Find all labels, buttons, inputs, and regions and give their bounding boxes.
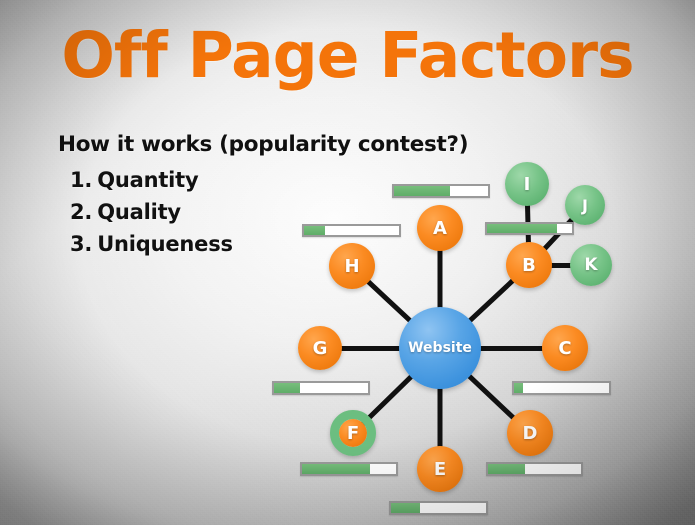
diagram-node-h[interactable]: H	[329, 243, 375, 289]
diagram-node-b[interactable]: B	[506, 242, 552, 288]
node-label: A	[433, 218, 447, 239]
progress-bar-fill	[302, 464, 370, 474]
page-title: Off Page Factors	[0, 24, 695, 87]
progress-bar-e	[389, 501, 488, 515]
slide-canvas: WebsiteABCDEFGHIJK Off Page Factors How …	[0, 0, 695, 525]
progress-bar-fill	[274, 383, 300, 393]
diagram-node-j[interactable]: J	[565, 185, 605, 225]
progress-bar-c	[512, 381, 611, 395]
progress-bar-fill	[488, 464, 525, 474]
progress-bar-fill	[391, 503, 420, 513]
node-label: G	[313, 338, 328, 359]
diagram-node-i[interactable]: I	[505, 162, 549, 206]
node-label: I	[524, 174, 531, 195]
diagram-node-g[interactable]: G	[298, 326, 342, 370]
list-item-label: Uniqueness	[97, 232, 233, 256]
diagram-node-a[interactable]: A	[417, 205, 463, 251]
progress-bar-d	[486, 462, 583, 476]
diagram-node-e[interactable]: E	[417, 446, 463, 492]
list-item: 2.Quality	[70, 200, 233, 224]
progress-bar-b	[485, 222, 574, 235]
progress-bar-fill	[514, 383, 523, 393]
list-item-number: 1.	[70, 168, 92, 192]
node-label: K	[584, 255, 597, 275]
node-label: C	[558, 338, 571, 359]
progress-bar-f	[300, 462, 398, 476]
node-label: H	[344, 256, 359, 277]
node-label: B	[522, 255, 536, 276]
node-label: D	[523, 423, 538, 444]
diagram-node-f[interactable]: F	[330, 410, 376, 456]
progress-bar-g	[272, 381, 370, 395]
node-label: J	[582, 196, 588, 215]
diagram-node-k[interactable]: K	[570, 244, 612, 286]
list-item-number: 3.	[70, 232, 92, 256]
progress-bar-fill	[487, 224, 557, 233]
list-item-label: Quality	[97, 200, 181, 224]
node-label: Website	[408, 340, 472, 356]
diagram-node-website-hub[interactable]: Website	[399, 307, 481, 389]
progress-bar-a	[392, 184, 490, 198]
list-item: 3.Uniqueness	[70, 232, 233, 256]
progress-bar-h	[302, 224, 401, 237]
diagram-node-d[interactable]: D	[507, 410, 553, 456]
node-label: E	[434, 459, 446, 480]
progress-bar-fill	[304, 226, 325, 235]
subheading: How it works (popularity contest?)	[58, 132, 468, 157]
list-item: 1.Quantity	[70, 168, 233, 192]
progress-bar-fill	[394, 186, 450, 196]
bullet-list: 1.Quantity 2.Quality 3.Uniqueness	[70, 168, 233, 264]
diagram-node-c[interactable]: C	[542, 325, 588, 371]
list-item-label: Quantity	[97, 168, 198, 192]
node-label: F	[347, 423, 359, 444]
list-item-number: 2.	[70, 200, 92, 224]
